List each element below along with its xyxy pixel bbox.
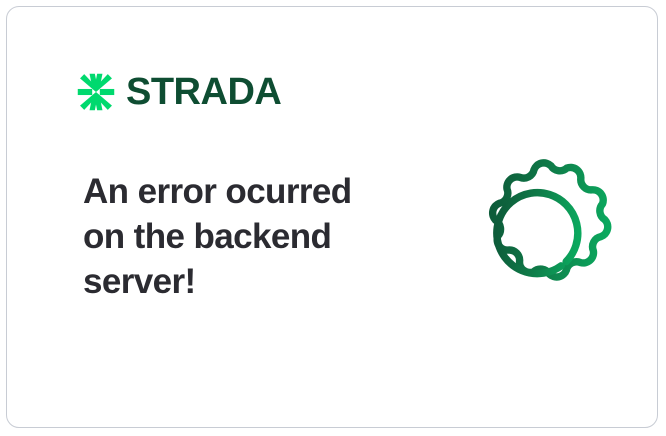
error-screen: STRADA An error ocurred on the backend s… <box>0 0 666 436</box>
error-card: STRADA An error ocurred on the backend s… <box>6 6 658 428</box>
brand-lockup: STRADA <box>77 73 281 111</box>
error-message-line-3: server! <box>83 260 383 305</box>
strada-asterisk-icon <box>77 73 115 111</box>
gear-illustration <box>455 150 613 312</box>
error-message-line-2: on the backend <box>83 215 383 260</box>
error-message-line-1: An error ocurred <box>83 170 383 215</box>
brand-wordmark: STRADA <box>126 73 281 111</box>
error-message: An error ocurred on the backend server! <box>83 170 383 304</box>
